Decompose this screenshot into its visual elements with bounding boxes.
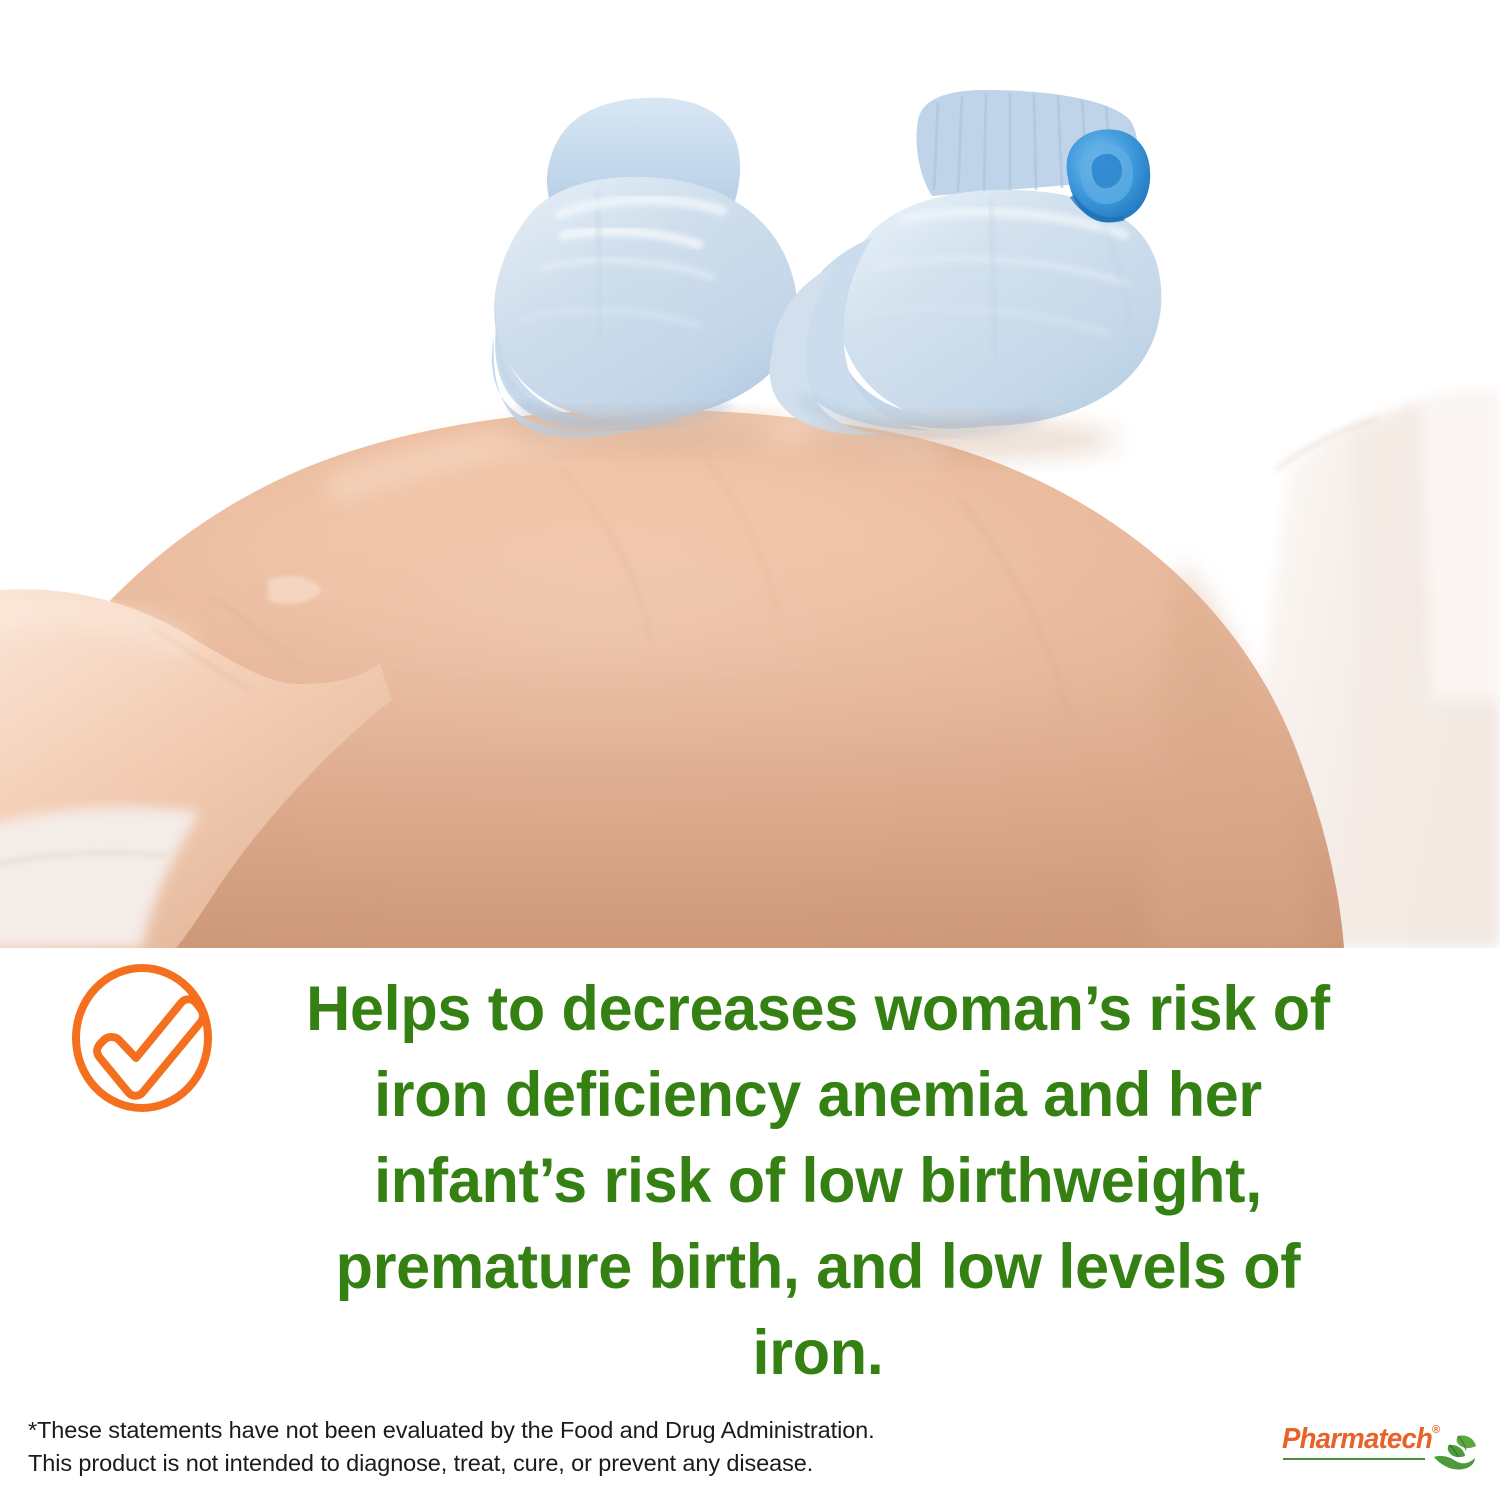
pharmatech-logo: Pharmatech ® — [1282, 1424, 1478, 1476]
fda-disclaimer-line-1: *These statements have not been evaluate… — [28, 1414, 1028, 1447]
pregnant-belly-with-booties-illustration — [0, 0, 1500, 948]
pharmatech-wordmark: Pharmatech — [1282, 1424, 1432, 1455]
bootie-left-shadow — [500, 414, 780, 450]
benefit-headline-line: premature birth, and low levels of — [246, 1224, 1391, 1310]
hero-photo — [0, 0, 1500, 948]
benefit-headline-line: iron deficiency anemia and her — [246, 1052, 1391, 1138]
hand-holding-leaves-icon — [1432, 1432, 1478, 1472]
logo-underline-rule — [1283, 1458, 1425, 1460]
check-mark-outline — [97, 999, 203, 1096]
benefit-card: Helps to decreases woman’s risk of iron … — [0, 0, 1500, 1500]
benefit-headline: Helps to decreases woman’s risk of iron … — [246, 966, 1391, 1396]
fda-disclaimer-line-2: This product is not intended to diagnose… — [28, 1447, 1028, 1480]
benefit-headline-line: Helps to decreases woman’s risk of — [246, 966, 1391, 1052]
benefit-headline-line: infant’s risk of low birthweight, — [246, 1138, 1391, 1224]
benefit-headline-line: iron. — [246, 1310, 1391, 1396]
check-circle-icon — [70, 958, 222, 1116]
bootie-right-shadow — [800, 420, 1120, 460]
fda-disclaimer: *These statements have not been evaluate… — [28, 1414, 1028, 1480]
